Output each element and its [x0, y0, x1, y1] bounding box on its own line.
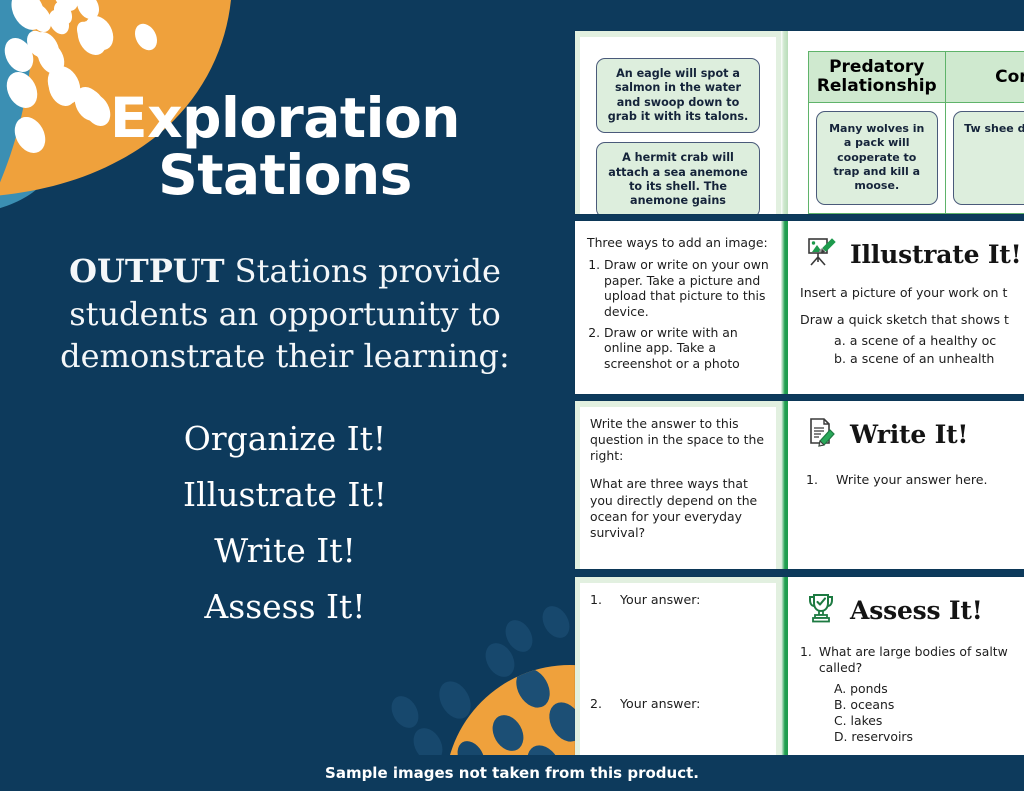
slide-right-column: Illustrate It! Insert a picture of your … — [788, 221, 1024, 394]
slide-left-content: Write the answer to this question in the… — [580, 407, 776, 569]
slide-right-column: Assess It! 1. What are large bodies of s… — [788, 577, 1024, 763]
station-list-item-3: Assess It! — [25, 579, 545, 635]
answer-slot-row: 1. Write your answer here. — [806, 472, 1014, 487]
sample-slide-assess-it[interactable]: 1. Your answer: 2. Your answer: — [575, 577, 1024, 763]
slide-left-column: Three ways to add an image: Draw or writ… — [575, 221, 781, 394]
slide-right-column: Predatory Relationship Con Many wolves i… — [788, 31, 1024, 214]
illustrate-instruction-1: Insert a picture of your work on t — [800, 284, 1014, 301]
station-title: Illustrate It! — [850, 240, 1021, 269]
slide-divider-bar — [781, 221, 788, 394]
table-header-row: Predatory Relationship Con — [809, 52, 1024, 103]
answer-row-number: 2. — [590, 696, 602, 712]
table-header-predatory: Predatory Relationship — [809, 52, 946, 103]
station-header: Write It! — [804, 415, 1014, 454]
page-title-line1: Exploration — [110, 86, 460, 150]
page-title-line2: Stations — [50, 147, 520, 204]
answer-slot-text[interactable]: Write your answer here. — [836, 472, 987, 487]
table-cell-competitive: Tw shee deter a — [945, 103, 1024, 213]
sample-disclaimer-caption: Sample images not taken from this produc… — [0, 764, 1024, 782]
write-prompt-intro: Write the answer to this question in the… — [590, 416, 766, 464]
station-list-item-2: Write It! — [25, 523, 545, 579]
illustrate-subitem-a: a. a scene of a healthy oc — [834, 332, 1014, 349]
left-text-panel: Exploration Stations OUTPUT Stations pro… — [0, 0, 570, 791]
quiz-choice-a[interactable]: A. ponds — [834, 681, 1014, 697]
add-image-steps: Draw or write on your own paper. Take a … — [587, 257, 769, 371]
illustrate-instruction-2: Draw a quick sketch that shows t — [800, 311, 1014, 328]
spacer — [590, 608, 766, 696]
quiz-question: 1. What are large bodies of saltw called… — [800, 644, 1014, 677]
slide-divider-bar — [781, 31, 788, 214]
slide-left-column: An eagle will spot a salmon in the water… — [575, 31, 781, 214]
table-row: Many wolves in a pack will cooperate to … — [809, 103, 1024, 213]
intro-paragraph: OUTPUT Stations provide students an oppo… — [25, 250, 545, 377]
slide-left-content: 1. Your answer: 2. Your answer: — [580, 583, 776, 763]
slide-canvas: Exploration Stations OUTPUT Stations pro… — [0, 0, 1024, 791]
quiz-question-text: What are large bodies of saltw called? — [819, 644, 1014, 677]
relationship-table: Predatory Relationship Con Many wolves i… — [808, 51, 1024, 214]
station-header: Illustrate It! — [804, 235, 1014, 274]
answer-row: 1. Your answer: — [590, 592, 766, 608]
list-item: Draw or write with an online app. Take a… — [604, 325, 769, 372]
paper-pencil-icon — [804, 415, 838, 454]
list-item: Draw or write on your own paper. Take a … — [604, 257, 769, 320]
quiz-choice-c[interactable]: C. lakes — [834, 713, 1014, 729]
page-title: Exploration Stations — [50, 90, 520, 204]
station-list-item-1: Illustrate It! — [25, 467, 545, 523]
answer-row-number: 1. — [590, 592, 602, 608]
spacer — [590, 464, 766, 476]
table-cell-predatory: Many wolves in a pack will cooperate to … — [809, 103, 946, 213]
answer-slot-number: 1. — [806, 472, 818, 487]
note-card-eagle: An eagle will spot a salmon in the water… — [596, 58, 760, 133]
quiz-choices: A. ponds B. oceans C. lakes D. reservoir… — [834, 681, 1014, 746]
quiz-choice-b[interactable]: B. oceans — [834, 697, 1014, 713]
station-title: Assess It! — [850, 596, 983, 625]
trophy-check-icon — [804, 591, 838, 630]
station-name-list: Organize It! Illustrate It! Write It! As… — [25, 411, 545, 635]
slide-right-column: Write It! 1. Write your answer here. — [788, 401, 1024, 569]
sample-slide-organize-it[interactable]: An eagle will spot a salmon in the water… — [575, 31, 1024, 214]
sample-slide-write-it[interactable]: Write the answer to this question in the… — [575, 401, 1024, 569]
station-title: Write It! — [850, 420, 968, 449]
write-question: What are three ways that you directly de… — [590, 476, 766, 541]
answer-row-label[interactable]: Your answer: — [620, 696, 700, 712]
note-card-hermit-crab: A hermit crab will attach a sea anemone … — [596, 142, 760, 214]
illustrate-subitem-b: b. a scene of an unhealth — [834, 350, 1014, 367]
answer-row-label[interactable]: Your answer: — [620, 592, 700, 608]
quiz-question-block: 1. What are large bodies of saltw called… — [800, 644, 1014, 745]
answer-row: 2. Your answer: — [590, 696, 766, 712]
slide-left-content: Three ways to add an image: Draw or writ… — [575, 221, 781, 394]
sample-slides-column: An eagle will spot a salmon in the water… — [575, 0, 1024, 791]
slide-divider-bar — [781, 401, 788, 569]
sample-slide-illustrate-it[interactable]: Three ways to add an image: Draw or writ… — [575, 221, 1024, 394]
note-card-sheep: Tw shee deter a — [953, 111, 1024, 204]
station-header: Assess It! — [804, 591, 1014, 630]
slide-left-column: 1. Your answer: 2. Your answer: — [575, 577, 781, 763]
add-image-intro: Three ways to add an image: — [587, 235, 769, 251]
slide-left-content: An eagle will spot a salmon in the water… — [580, 37, 776, 214]
slide-divider-bar — [781, 577, 788, 763]
station-list-item-0: Organize It! — [25, 411, 545, 467]
quiz-question-number: 1. — [800, 644, 812, 677]
note-card-wolves: Many wolves in a pack will cooperate to … — [816, 111, 938, 204]
table-header-competitive: Con — [945, 52, 1024, 103]
easel-paintbrush-icon — [804, 235, 838, 274]
quiz-choice-d[interactable]: D. reservoirs — [834, 729, 1014, 745]
slide-left-column: Write the answer to this question in the… — [575, 401, 781, 569]
intro-bold-word: OUTPUT — [69, 252, 224, 290]
